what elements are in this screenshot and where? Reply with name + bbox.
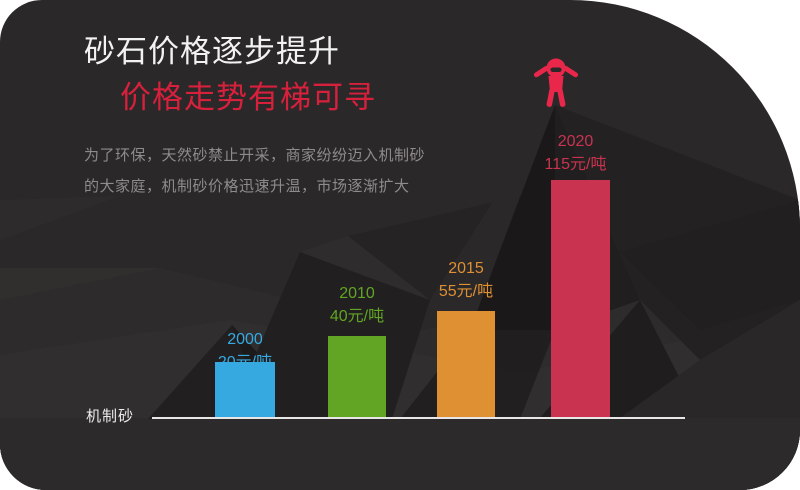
bar-label-2000-value: 20元/吨 (190, 351, 300, 374)
page-subtitle: 价格走势有梯可寻 (120, 78, 464, 118)
bar-label-2010: 2010 40元/吨 (303, 282, 411, 328)
bar-label-2015: 2015 55元/吨 (412, 257, 520, 303)
bar-label-2010-year: 2010 (303, 282, 411, 305)
infographic-canvas: 砂石价格逐步提升 价格走势有梯可寻 为了环保，天然砂禁止开采，商家纷纷迈入机制砂… (0, 0, 800, 490)
bar-label-2020: 2020 115元/吨 (521, 130, 630, 176)
bar-label-2015-year: 2015 (412, 257, 520, 280)
bar-label-2015-value: 55元/吨 (412, 280, 520, 303)
description-paragraph: 为了环保，天然砂禁止开采，商家纷纷迈入机制砂的大家庭，机制砂价格迅速升温，市场逐… (84, 140, 429, 202)
bar-label-2000: 2000 20元/吨 (190, 328, 300, 374)
baseline-axis (152, 417, 685, 419)
page-title: 砂石价格逐步提升 (84, 32, 464, 72)
celebrating-stick-figure-icon (531, 55, 581, 107)
bar-label-2000-year: 2000 (190, 328, 300, 351)
bar-2020[interactable] (551, 180, 610, 417)
axis-category-label: 机制砂 (86, 405, 134, 426)
bar-label-2010-value: 40元/吨 (303, 305, 411, 328)
dark-panel: 砂石价格逐步提升 价格走势有梯可寻 为了环保，天然砂禁止开采，商家纷纷迈入机制砂… (0, 0, 800, 490)
bar-label-2020-year: 2020 (521, 130, 630, 153)
bar-2010[interactable] (328, 336, 386, 417)
bar-label-2020-value: 115元/吨 (521, 153, 630, 176)
text-block: 砂石价格逐步提升 价格走势有梯可寻 为了环保，天然砂禁止开采，商家纷纷迈入机制砂… (84, 32, 464, 202)
bar-2015[interactable] (437, 311, 495, 417)
